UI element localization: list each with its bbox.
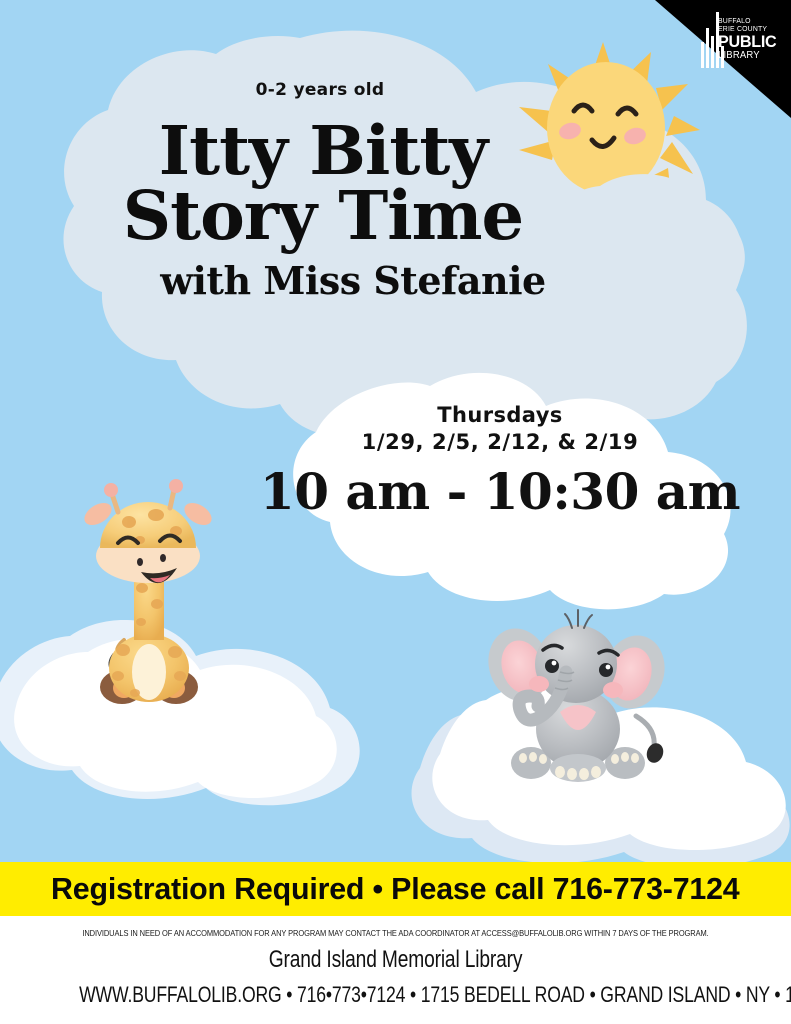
schedule-dates: 1/29, 2/5, 2/12, & 2/19 (210, 428, 790, 456)
registration-banner-text: Registration Required • Please call 716-… (51, 871, 739, 907)
title-subtitle: with Miss Stefanie (0, 260, 646, 302)
schedule-time: 10 am - 10:30 am (210, 463, 790, 521)
logo-bars-icon (701, 10, 714, 68)
logo-line-library: LIBRARY (718, 51, 776, 61)
registration-banner: Registration Required • Please call 716-… (0, 862, 791, 916)
title-line-2: Story Time (0, 183, 646, 248)
footer: INDIVIDUALS IN NEED OF AN ACCOMMODATION … (0, 916, 791, 1024)
title-line-1: Itty Bitty (0, 118, 646, 183)
age-range-label: 0-2 years old (0, 80, 640, 100)
flyer-canvas: BUFFALO ERIE COUNTY PUBLIC LIBRARY 0-2 y… (0, 0, 791, 1024)
logo-line-buffalo: BUFFALO (718, 17, 775, 25)
logo-line-public: PUBLIC (718, 34, 776, 50)
branch-name: Grand Island Memorial Library (79, 946, 712, 974)
library-logo: BUFFALO ERIE COUNTY PUBLIC LIBRARY (701, 8, 779, 70)
schedule-block: Thursdays 1/29, 2/5, 2/12, & 2/19 10 am … (210, 402, 790, 520)
ada-notice: INDIVIDUALS IN NEED OF AN ACCOMMODATION … (47, 928, 743, 938)
logo-wordmark: BUFFALO ERIE COUNTY PUBLIC LIBRARY (718, 17, 779, 61)
schedule-day: Thursdays (210, 402, 790, 428)
page-title: Itty Bitty Story Time with Miss Stefanie (0, 118, 646, 302)
contact-info: WWW.BUFFALOLIB.ORG • 716•773•7124 • 1715… (79, 982, 712, 1008)
